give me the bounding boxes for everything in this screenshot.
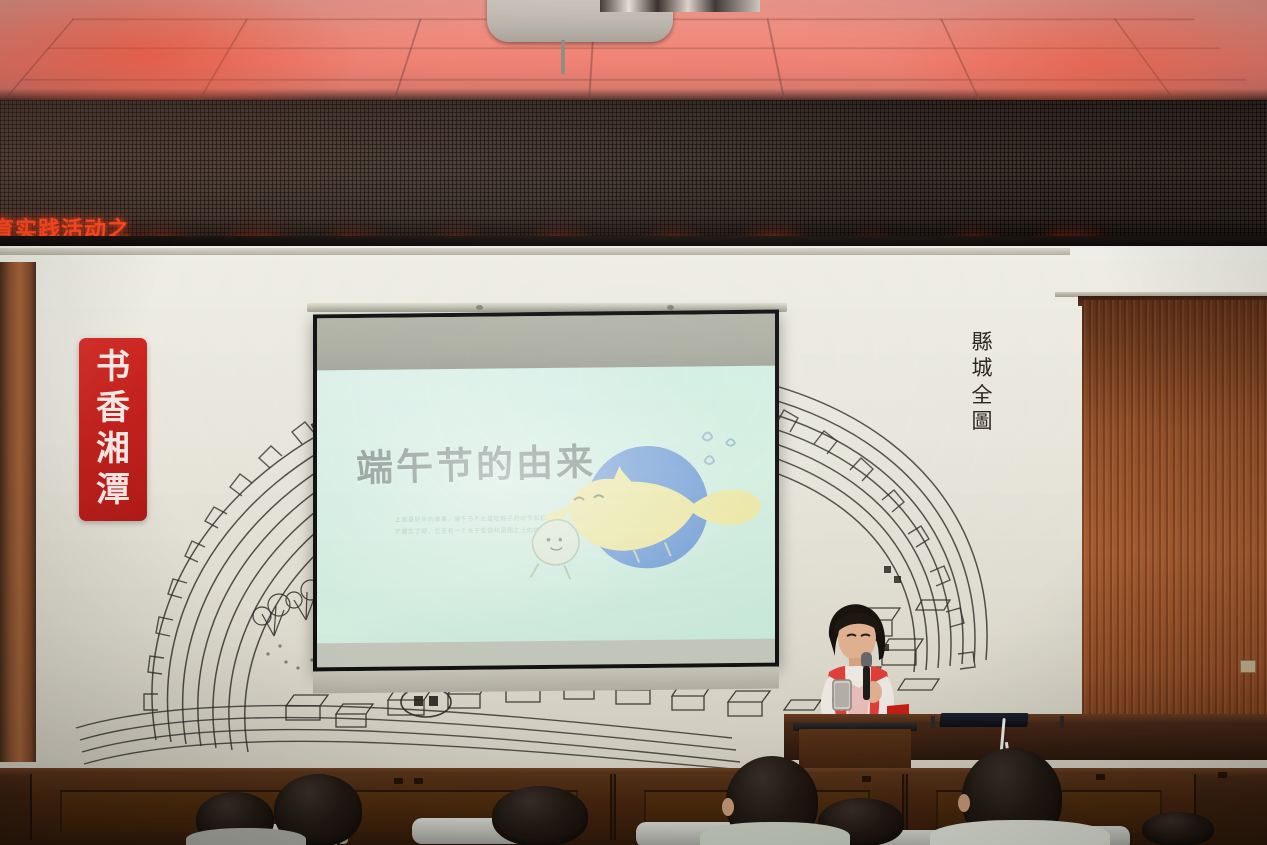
desk-stud	[1096, 774, 1105, 780]
audience-shoulders	[930, 820, 1110, 845]
right-wood-panel	[1082, 300, 1267, 760]
screen-rail-bracket-left	[476, 305, 483, 310]
wall-switch-plate[interactable]	[1240, 660, 1256, 673]
projection-screen: 端午节的由来 上面是好听的故事，端午节不止是吃粽子的时节和粽香， 不要忘了呀，它…	[313, 310, 779, 672]
screen-surface: 端午节的由来 上面是好听的故事，端午节不止是吃粽子的时节和粽香， 不要忘了呀，它…	[317, 314, 775, 668]
seal-char-4: 潭	[96, 474, 130, 508]
audience-ear	[722, 798, 734, 816]
led-sheen	[0, 100, 1267, 245]
ceiling-glow-left	[0, 0, 360, 104]
screen-rail-bracket-right	[667, 305, 674, 310]
seal-char-3: 湘	[96, 433, 130, 467]
audience-shoulders	[700, 822, 850, 845]
wall-rail	[0, 248, 1070, 255]
audience-head	[492, 786, 588, 845]
mural-title-char-4: 圖	[962, 409, 1002, 433]
audience-head	[1142, 812, 1214, 845]
mural-title-char-2: 城	[962, 356, 1002, 380]
auditorium-photo-scene: 育实践活动之 读 端 午 之 书 启 童 心 之 智 湘潭市图书馆 湖南科技大学…	[0, 0, 1267, 845]
left-wood-trim	[0, 262, 36, 762]
book-fragrance-xiangtan-seal: 书 香 湘 潭	[79, 338, 147, 521]
microphone-stand-right[interactable]	[1060, 716, 1064, 728]
laptop[interactable]	[939, 713, 1028, 727]
audience-ear	[958, 794, 970, 812]
desk-stud	[414, 778, 423, 784]
mural-title-char-1: 縣	[962, 330, 1002, 354]
microphone-stand-left[interactable]	[931, 716, 935, 728]
mural-vertical-title: 縣 城 全 圖	[962, 330, 1002, 435]
projected-slide: 端午节的由来 上面是好听的故事，端午节不止是吃粽子的时节和粽香， 不要忘了呀，它…	[317, 366, 775, 643]
projector-stem	[561, 40, 565, 74]
mural-title-char-3: 全	[962, 383, 1002, 407]
led-banner: 育实践活动之 读 端 午 之 书 启 童 心 之 智 湘潭市图书馆 湖南科技大学…	[0, 100, 1267, 245]
desk-stud	[862, 776, 871, 782]
ceiling-glow-right	[887, 0, 1267, 104]
desk-stud	[394, 778, 403, 784]
seal-char-1: 书	[96, 351, 130, 385]
fox-and-rice-dumpling-illustration	[509, 401, 765, 616]
audience-shoulders	[186, 828, 306, 845]
projector-mount-bracket	[600, 0, 760, 12]
seal-char-2: 香	[96, 392, 130, 426]
desk-stud	[1218, 772, 1227, 778]
